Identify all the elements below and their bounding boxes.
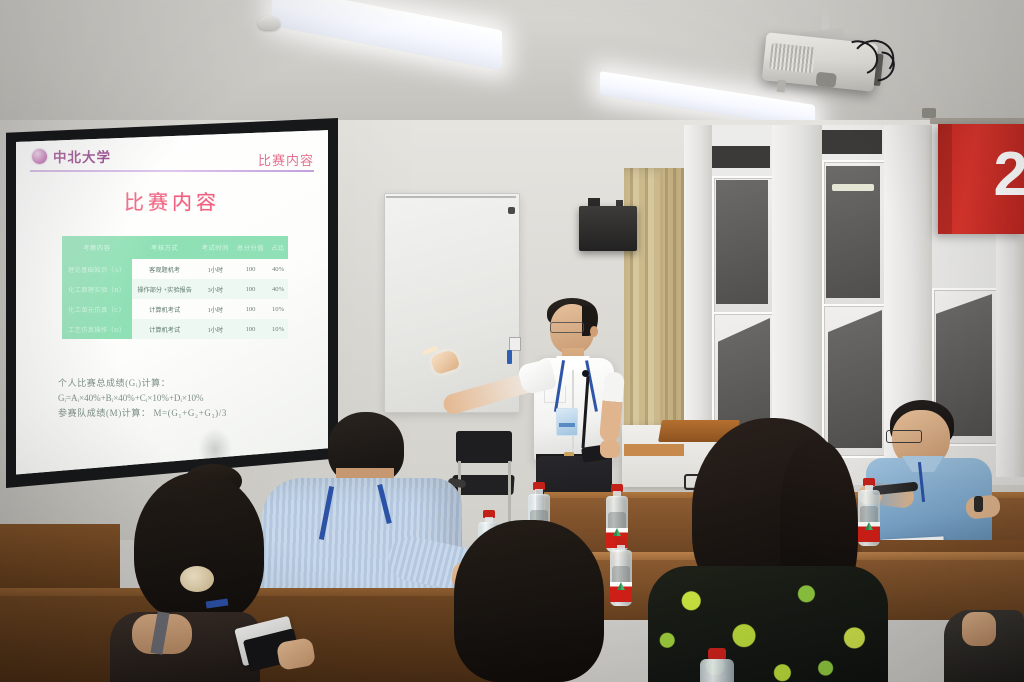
projector-cables bbox=[838, 37, 912, 89]
table-cell-method: 计算机考试 bbox=[132, 319, 198, 339]
banner-fold-edge bbox=[938, 124, 952, 234]
university-seal-icon bbox=[32, 149, 47, 164]
table-cell-category: 工艺仿真操作（D） bbox=[62, 319, 132, 339]
audience-far-right-skin bbox=[962, 612, 996, 646]
whiteboard-corner-bracket bbox=[508, 207, 515, 214]
table-cell-score: 100 bbox=[233, 299, 268, 319]
table-cell-method: 操作部分 +实验报告 bbox=[132, 279, 198, 299]
audience-center-hair bbox=[454, 520, 604, 682]
table-cell-category: 理论基础知识（A） bbox=[62, 259, 132, 279]
projector-lens bbox=[816, 72, 837, 88]
table-cell-method: 客观题机考 bbox=[132, 259, 198, 279]
badge-stripe bbox=[559, 423, 575, 427]
table-header-cell: 占比 bbox=[268, 236, 288, 259]
audience-woman-with-phone bbox=[110, 472, 310, 682]
slide-divider bbox=[30, 170, 314, 172]
presenter-holding-hand bbox=[600, 440, 620, 458]
wall-speaker bbox=[579, 206, 637, 251]
table-header-cell: 考核方式 bbox=[132, 236, 198, 259]
seated-man-right-arm bbox=[965, 494, 1001, 519]
table-cell-score: 100 bbox=[233, 259, 268, 279]
left-desk bbox=[0, 524, 120, 598]
seated-man-wristwatch bbox=[974, 496, 983, 512]
slide-content-table: 考察内容 考核方式 考试时间 总分分值 占比 理论基础知识（A） 客观题机考 1… bbox=[62, 236, 288, 339]
projector-vent bbox=[769, 43, 815, 73]
banner-text: 2 bbox=[994, 144, 1024, 206]
table-cell-method: 计算机考试 bbox=[132, 299, 198, 319]
smoke-detector-icon bbox=[258, 16, 280, 30]
slide-title: 比赛内容 bbox=[16, 186, 328, 215]
window-light-reflection bbox=[832, 184, 874, 191]
table-row: 理论基础知识（A） 客观题机考 1小时 100 40% bbox=[62, 259, 288, 279]
ceiling-hook bbox=[922, 108, 936, 118]
formula-line-1: 个人比赛总成绩(Gᵢ)计算： bbox=[58, 376, 308, 391]
table-cell-time: 1小时 bbox=[198, 259, 233, 279]
table-header-cell: 考察内容 bbox=[62, 236, 132, 259]
table-cell-time: 1小时 bbox=[198, 319, 233, 339]
table-cell-weight: 10% bbox=[268, 299, 288, 319]
table-cell-weight: 40% bbox=[268, 259, 288, 279]
table-cell-category: 化工单元仿真（C） bbox=[62, 299, 132, 319]
formula-line-2: Gᵢ=Aᵢ×40%+Bᵢ×40%+Cᵢ×10%+Dᵢ×10% bbox=[58, 391, 308, 406]
lecture-hall-photo: 2 中北大学 比赛内容 比赛内容 考察内容 考核方式 bbox=[0, 0, 1024, 682]
table-row: 化工单元仿真（C） 计算机考试 1小时 100 10% bbox=[62, 299, 288, 319]
slide-header-kicker: 比赛内容 bbox=[258, 150, 314, 169]
table-cell-score: 100 bbox=[233, 279, 268, 299]
window-curtain-fold bbox=[660, 168, 684, 440]
table-row: 化工原理实验（B） 操作部分 +实验报告 3小时 100 40% bbox=[62, 279, 288, 299]
audience-person-center bbox=[436, 520, 626, 682]
table-header-cell: 考试时间 bbox=[198, 236, 233, 259]
table-cell-weight: 10% bbox=[268, 319, 288, 339]
projector-foot bbox=[777, 80, 786, 93]
window-lintel-2 bbox=[822, 130, 882, 154]
table-cell-time: 1小时 bbox=[198, 299, 233, 319]
hair-clip bbox=[180, 566, 214, 592]
table-cell-category: 化工原理实验（B） bbox=[62, 279, 132, 299]
table-cell-weight: 40% bbox=[268, 279, 288, 299]
table-header-row: 考察内容 考核方式 考试时间 总分分值 占比 bbox=[62, 236, 288, 259]
table-header-cell: 总分分值 bbox=[233, 236, 268, 259]
table-row: 工艺仿真操作（D） 计算机考试 1小时 100 10% bbox=[62, 319, 288, 339]
presenter-id-badge bbox=[556, 408, 578, 436]
presenter-glasses bbox=[550, 322, 584, 333]
window-pane-1-upper bbox=[716, 180, 768, 304]
window-lintel-1 bbox=[712, 146, 770, 168]
presenter-ear bbox=[590, 326, 598, 337]
audience-woman-hair-back bbox=[134, 472, 264, 622]
fluorescent-light-1 bbox=[272, 0, 502, 70]
bottle-body bbox=[700, 659, 734, 682]
table-cell-time: 3小时 bbox=[198, 279, 233, 299]
whiteboard-rail bbox=[386, 196, 516, 198]
audience-woman-blouse bbox=[648, 566, 888, 682]
table-cell-score: 100 bbox=[233, 319, 268, 339]
university-name: 中北大学 bbox=[53, 146, 111, 166]
audience-woman-patterned-top bbox=[648, 418, 894, 682]
